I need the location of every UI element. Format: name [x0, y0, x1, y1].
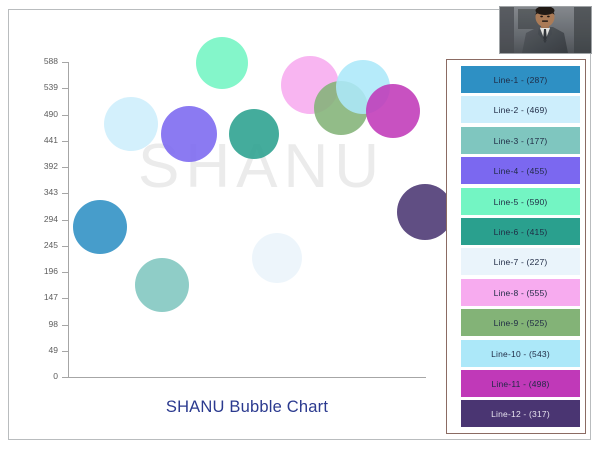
- bubble-line-6[interactable]: [229, 109, 279, 159]
- bubble-line-3[interactable]: [135, 258, 189, 312]
- y-axis-tick-label: 539: [18, 83, 58, 92]
- y-axis-tick-label: 392: [18, 162, 58, 171]
- y-axis-tick: [62, 220, 68, 221]
- legend: Line-1 - (287)Line-2 - (469)Line-3 - (17…: [446, 59, 586, 434]
- y-axis-tick: [62, 167, 68, 168]
- y-axis-tick: [62, 325, 68, 326]
- bubble-line-2[interactable]: [104, 97, 158, 151]
- y-axis-tick: [62, 351, 68, 352]
- legend-item-7[interactable]: Line-7 - (227): [461, 248, 580, 275]
- y-axis-tick: [62, 246, 68, 247]
- legend-item-1[interactable]: Line-1 - (287): [461, 66, 580, 93]
- y-axis-tick: [62, 62, 68, 63]
- y-axis-tick: [62, 377, 68, 378]
- legend-item-label: Line-12 - (317): [461, 409, 580, 419]
- y-axis-tick: [62, 272, 68, 273]
- legend-item-label: Line-8 - (555): [461, 288, 580, 298]
- y-axis-tick: [62, 298, 68, 299]
- legend-item-12[interactable]: Line-12 - (317): [461, 400, 580, 427]
- legend-item-label: Line-7 - (227): [461, 257, 580, 267]
- legend-item-3[interactable]: Line-3 - (177): [461, 127, 580, 154]
- legend-item-label: Line-3 - (177): [461, 136, 580, 146]
- legend-items: Line-1 - (287)Line-2 - (469)Line-3 - (17…: [452, 64, 580, 429]
- x-axis-line: [68, 377, 426, 378]
- page-title: SHANU Bubble Chart: [68, 398, 426, 417]
- legend-item-label: Line-1 - (287): [461, 75, 580, 85]
- y-axis-tick: [62, 141, 68, 142]
- legend-item-label: Line-6 - (415): [461, 227, 580, 237]
- y-axis-tick-label: 196: [18, 267, 58, 276]
- y-axis-tick: [62, 115, 68, 116]
- legend-item-8[interactable]: Line-8 - (555): [461, 279, 580, 306]
- y-axis-tick-label: 441: [18, 136, 58, 145]
- legend-item-4[interactable]: Line-4 - (455): [461, 157, 580, 184]
- legend-item-5[interactable]: Line-5 - (590): [461, 188, 580, 215]
- y-axis-tick: [62, 193, 68, 194]
- y-axis-tick: [62, 88, 68, 89]
- bubble-line-11[interactable]: [366, 84, 420, 138]
- legend-item-label: Line-4 - (455): [461, 166, 580, 176]
- legend-item-10[interactable]: Line-10 - (543): [461, 340, 580, 367]
- legend-item-label: Line-9 - (525): [461, 318, 580, 328]
- y-axis-tick-label: 49: [18, 346, 58, 355]
- bubble-line-7[interactable]: [252, 233, 302, 283]
- bubble-line-4[interactable]: [161, 106, 217, 162]
- legend-item-6[interactable]: Line-6 - (415): [461, 218, 580, 245]
- y-axis-tick-label: 245: [18, 241, 58, 250]
- y-axis-tick-label: 147: [18, 293, 58, 302]
- y-axis-tick-label: 490: [18, 110, 58, 119]
- bubble-chart-screenshot: SHANU 5885394904413923432942451961479849…: [0, 0, 602, 450]
- y-axis-tick-label: 0: [18, 372, 58, 381]
- legend-item-label: Line-5 - (590): [461, 197, 580, 207]
- legend-item-label: Line-10 - (543): [461, 349, 580, 359]
- bubble-line-12[interactable]: [397, 184, 453, 240]
- y-axis-tick-label: 294: [18, 215, 58, 224]
- legend-item-label: Line-2 - (469): [461, 105, 580, 115]
- y-axis-tick-label: 343: [18, 188, 58, 197]
- y-axis-tick-label: 98: [18, 320, 58, 329]
- person-portrait-photo: [499, 6, 592, 54]
- legend-item-9[interactable]: Line-9 - (525): [461, 309, 580, 336]
- bubble-line-5[interactable]: [196, 37, 248, 89]
- legend-item-11[interactable]: Line-11 - (498): [461, 370, 580, 397]
- bubble-line-1[interactable]: [73, 200, 127, 254]
- y-axis-tick-label: 588: [18, 57, 58, 66]
- legend-item-label: Line-11 - (498): [461, 379, 580, 389]
- legend-item-2[interactable]: Line-2 - (469): [461, 96, 580, 123]
- y-axis-line: [68, 62, 69, 378]
